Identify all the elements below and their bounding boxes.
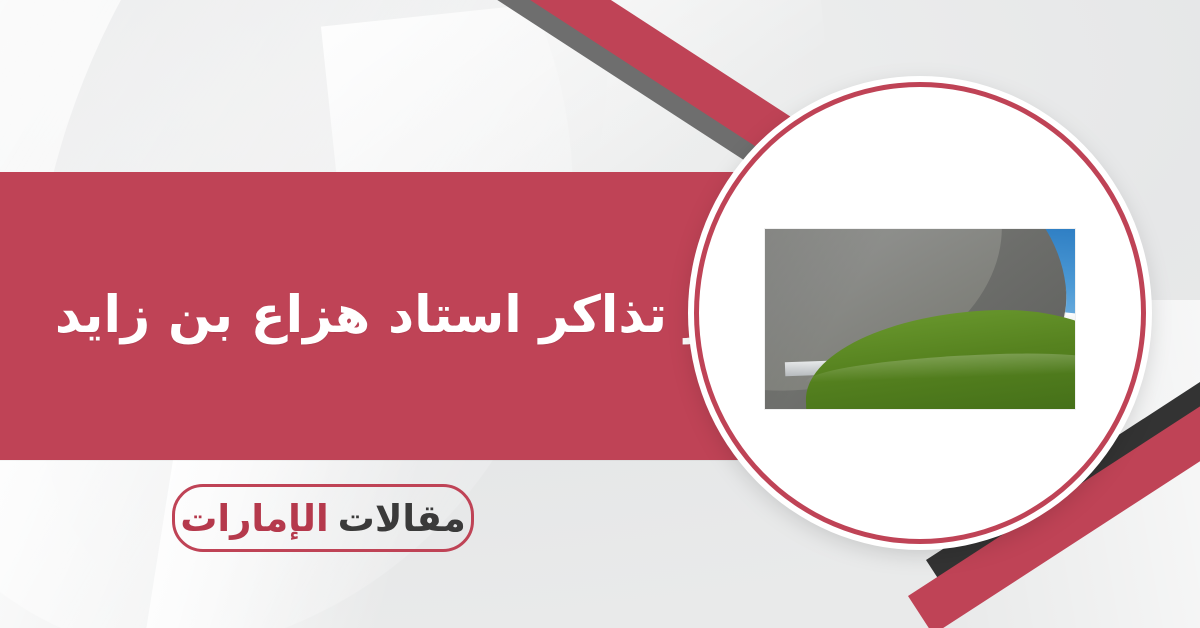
medallion-ring [694,82,1146,544]
brand-logo-word-one: مقالات [338,500,466,537]
brand-logo[interactable]: مقالات الإمارات [172,484,474,552]
photo-medallion [680,70,1160,560]
promo-banner: حجز تذاكر استاد هزاع بن زايد [0,0,1200,628]
brand-logo-word-two: الإمارات [180,500,328,537]
photo-vignette [765,229,1075,409]
hazza-bin-zayed-stadium-photo [765,229,1075,409]
